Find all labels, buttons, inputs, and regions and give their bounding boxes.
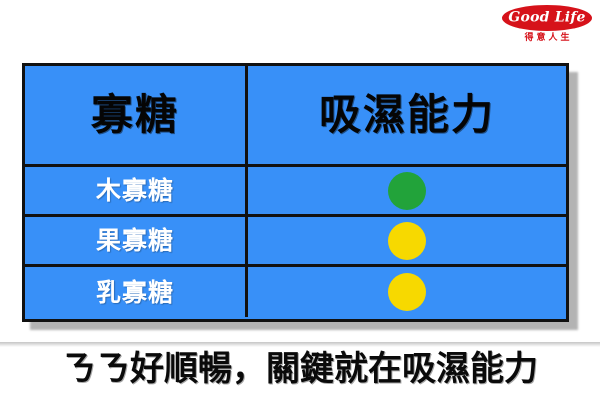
caption-divider-shadow: [0, 342, 600, 347]
table-row: 木寡糖: [25, 167, 566, 217]
table-header-cell-moisture: 吸濕能力: [248, 66, 566, 164]
table-row-label: 乳寡糖: [96, 280, 174, 305]
table-cell-sugar-name: 乳寡糖: [25, 267, 248, 317]
brand-logo: Good Life 得意人生: [500, 5, 594, 53]
table-header-row: 寡糖 吸濕能力: [25, 66, 566, 167]
table-cell-sugar-name: 果寡糖: [25, 217, 248, 264]
green-dot-icon: [388, 172, 426, 210]
yellow-dot-icon: [388, 273, 426, 311]
table-row: 果寡糖: [25, 217, 566, 267]
brand-badge-ellipse: Good Life: [502, 5, 592, 31]
brand-wordmark: Good Life: [508, 11, 585, 25]
table-cell-sugar-name: 木寡糖: [25, 167, 248, 214]
table-header-label-sugar: 寡糖: [91, 94, 179, 136]
table-header-cell-sugar: 寡糖: [25, 66, 248, 164]
table-row: 乳寡糖: [25, 267, 566, 317]
caption-text: ㄋㄋ好順暢，關鍵就在吸濕能力: [0, 350, 600, 389]
slide-canvas: Good Life 得意人生 寡糖 吸濕能力 木寡糖 果寡糖: [0, 0, 600, 420]
oligosaccharide-comparison-table: 寡糖 吸濕能力 木寡糖 果寡糖 乳寡糖: [22, 63, 569, 322]
table-cell-moisture-indicator: [248, 267, 566, 317]
table-cell-moisture-indicator: [248, 167, 566, 214]
table-cell-moisture-indicator: [248, 217, 566, 264]
brand-tagline: 得意人生: [500, 34, 594, 43]
table-row-label: 木寡糖: [96, 178, 174, 203]
table-row-label: 果寡糖: [96, 228, 174, 253]
table-header-label-moisture: 吸濕能力: [319, 94, 495, 136]
yellow-dot-icon: [388, 222, 426, 260]
